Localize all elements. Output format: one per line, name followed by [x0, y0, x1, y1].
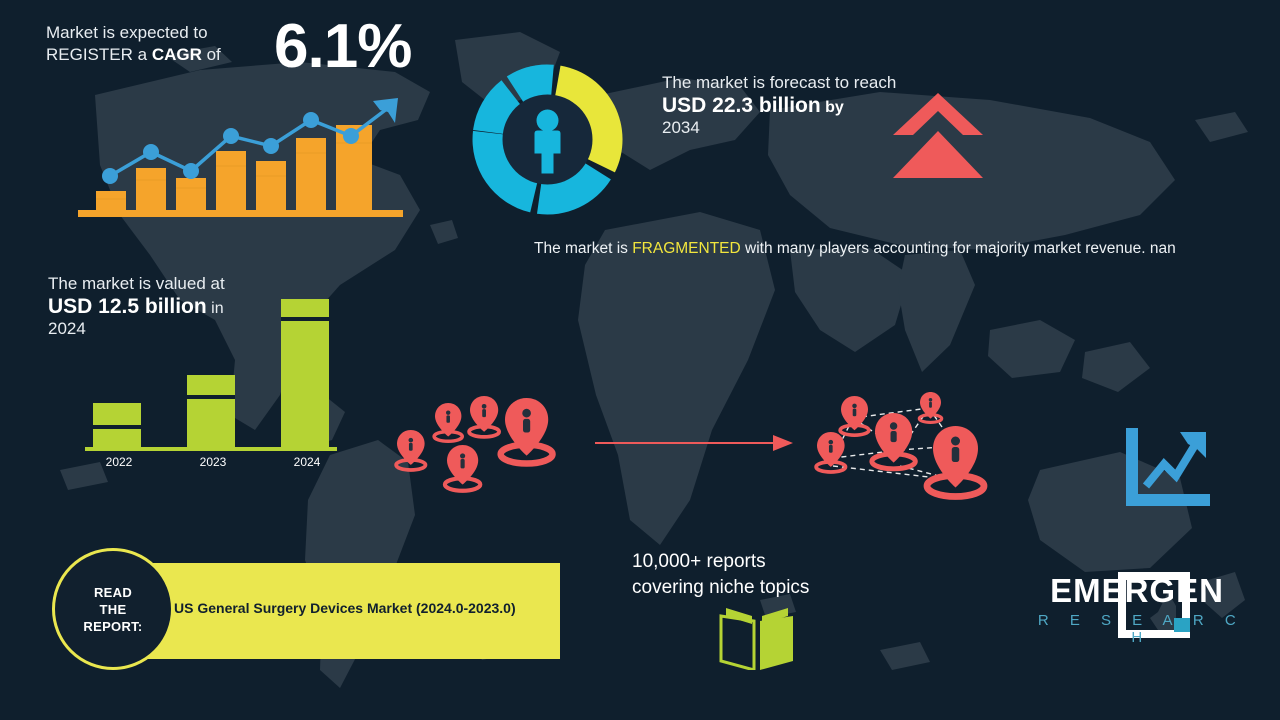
fragmentation-statement: The market is FRAGMENTED with many playe…	[534, 237, 1214, 261]
green-value-bars	[75, 295, 345, 475]
cagr-label: Market is expected to REGISTER a CAGR of	[46, 22, 246, 66]
cagr-block: Market is expected to REGISTER a CAGR of…	[46, 22, 446, 66]
forecast-by-label: by	[821, 99, 844, 116]
brand-name: EMERGEN	[1022, 572, 1252, 610]
growth-chart-icon	[68, 88, 413, 223]
cta-line3: REPORT:	[83, 619, 142, 634]
double-chevron-up-icon	[893, 93, 983, 178]
forecast-value: USD 22.3 billion	[662, 94, 821, 117]
forecast-year: 2034	[662, 118, 912, 138]
map-pin-cluster-networked	[805, 388, 1010, 503]
report-cta-bar[interactable]: US General Surgery Devices Market (2024.…	[110, 563, 560, 659]
valuation-label: The market is valued at	[48, 273, 328, 295]
brand-logo: EMERGEN R E S E A R C H	[1022, 572, 1252, 646]
arrow-right-icon	[595, 432, 795, 454]
green-bar-label-2022: 2022	[89, 455, 149, 469]
fragment-pre: The market is	[534, 240, 632, 257]
read-the-report-badge[interactable]: READTHEREPORT:	[52, 548, 174, 670]
cagr-line2-pre: REGISTER a	[46, 45, 152, 64]
reports-line1: 10,000+ reports	[632, 549, 932, 575]
brand-subtitle: R E S E A R C H	[1022, 612, 1252, 646]
reports-line2: covering niche topics	[632, 575, 932, 601]
cagr-line1: Market is expected to	[46, 23, 208, 42]
read-the-report-label: READTHEREPORT:	[83, 584, 142, 635]
fragment-post: with many players accounting for majorit…	[741, 240, 1176, 257]
infographic-canvas: Market is expected to REGISTER a CAGR of…	[0, 0, 1280, 720]
report-title: US General Surgery Devices Market (2024.…	[174, 593, 534, 623]
reports-count-block: 10,000+ reports covering niche topics	[632, 549, 932, 601]
cta-line1: READ	[94, 585, 132, 600]
green-bar-label-2024: 2024	[277, 455, 337, 469]
growth-axis-icon	[1122, 428, 1210, 510]
map-pin-cluster-scattered	[385, 388, 580, 493]
forecast-block: The market is forecast to reach USD 22.3…	[662, 72, 912, 138]
cagr-line2-strong: CAGR	[152, 45, 202, 64]
cta-line2: THE	[100, 602, 127, 617]
market-share-donut	[460, 52, 635, 227]
fragment-highlight: FRAGMENTED	[632, 240, 741, 257]
green-bar-label-2023: 2023	[183, 455, 243, 469]
cagr-value: 6.1%	[274, 12, 411, 82]
forecast-label: The market is forecast to reach	[662, 72, 912, 94]
cagr-line2-post: of	[202, 45, 221, 64]
open-book-icon	[718, 608, 796, 670]
